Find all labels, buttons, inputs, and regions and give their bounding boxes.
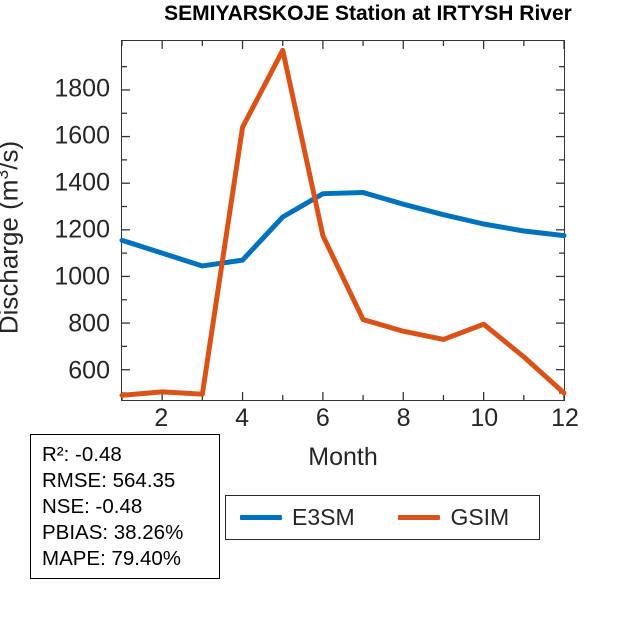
chart-title: SEMIYARSKOJE Station at IRTYSH River <box>118 2 618 26</box>
y-tick-label-1800: 1800 <box>0 75 110 104</box>
series-line-gsim <box>122 50 564 395</box>
legend-entry-e3sm[interactable]: E3SM <box>226 504 384 531</box>
legend-entry-gsim[interactable]: GSIM <box>384 504 539 531</box>
legend-swatch-e3sm <box>240 515 282 520</box>
x-tick-label-6: 6 <box>293 404 353 433</box>
plot-area <box>121 40 565 401</box>
y-tick-label-1000: 1000 <box>0 262 110 291</box>
legend-label-gsim: GSIM <box>450 504 509 531</box>
stats-line-r: R²: -0.48 <box>42 442 210 468</box>
stats-line-rmse: RMSE: 564.35 <box>42 468 210 494</box>
statistics-box: R²: -0.48RMSE: 564.35NSE: -0.48PBIAS: 38… <box>30 434 220 579</box>
figure-canvas: SEMIYARSKOJE Station at IRTYSH River Dis… <box>0 0 625 625</box>
x-tick-label-10: 10 <box>454 404 514 433</box>
x-tick-label-4: 4 <box>212 404 272 433</box>
legend-label-e3sm: E3SM <box>292 504 355 531</box>
x-tick-label-8: 8 <box>374 404 434 433</box>
legend: E3SMGSIM <box>225 495 540 540</box>
y-tick-label-800: 800 <box>0 309 110 338</box>
x-tick-label-12: 12 <box>535 404 595 433</box>
y-tick-label-600: 600 <box>0 356 110 385</box>
x-tick-label-2: 2 <box>131 404 191 433</box>
legend-swatch-gsim <box>398 515 440 520</box>
stats-line-pbias: PBIAS: 38.26% <box>42 520 210 546</box>
stats-line-mape: MAPE: 79.40% <box>42 546 210 572</box>
series-canvas <box>122 41 564 400</box>
y-tick-label-1400: 1400 <box>0 168 110 197</box>
y-tick-label-1200: 1200 <box>0 215 110 244</box>
y-tick-label-1600: 1600 <box>0 122 110 151</box>
stats-line-nse: NSE: -0.48 <box>42 494 210 520</box>
series-line-e3sm <box>122 193 564 266</box>
